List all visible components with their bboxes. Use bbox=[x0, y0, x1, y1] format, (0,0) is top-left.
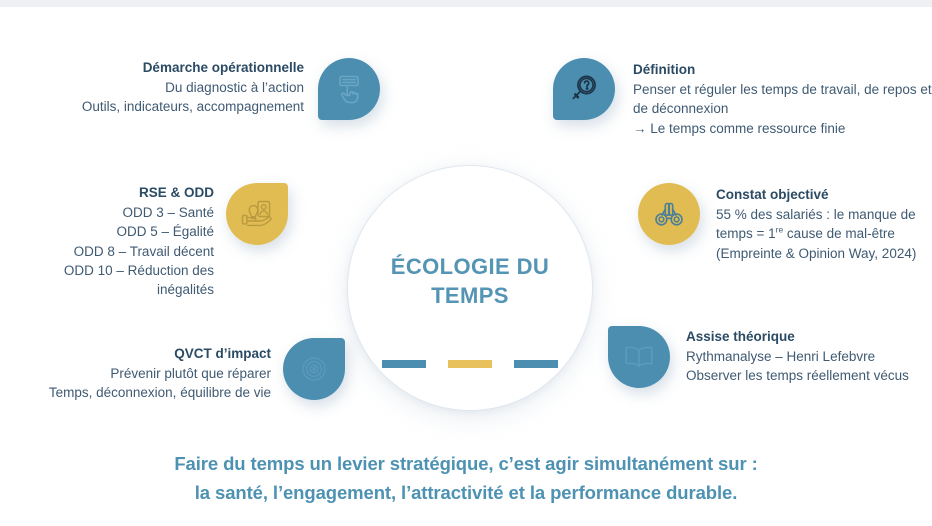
binoculars-icon bbox=[638, 183, 700, 245]
node-qvct-body: Prévenir plutôt que réparer Temps, décon… bbox=[49, 364, 271, 402]
node-assise-body: Rythmanalyse – Henri Lefebvre Observer l… bbox=[686, 347, 909, 385]
node-demarche-title: Démarche opérationnelle bbox=[82, 58, 304, 78]
node-qvct-title: QVCT d’impact bbox=[49, 344, 271, 364]
hand-click-action-icon bbox=[318, 58, 380, 120]
node-constat-title: Constat objectivé bbox=[716, 185, 932, 205]
hub-dash-1 bbox=[382, 360, 426, 368]
node-rse-title: RSE & ODD bbox=[20, 183, 214, 203]
open-book-icon bbox=[608, 326, 670, 388]
node-demarche-body: Du diagnostic à l’action Outils, indicat… bbox=[82, 78, 304, 116]
hub-title: ÉCOLOGIE DU TEMPS bbox=[375, 252, 565, 310]
node-rse-odd[interactable]: RSE & ODD ODD 3 – Santé ODD 5 – Égalité … bbox=[20, 183, 288, 299]
target-bullseye-icon bbox=[283, 338, 345, 400]
node-definition-title: Définition bbox=[633, 60, 932, 80]
node-qvct-text: QVCT d’impact Prévenir plutôt que répare… bbox=[49, 338, 271, 403]
node-definition[interactable]: Définition Penser et réguler les temps d… bbox=[553, 58, 932, 138]
hub-dashes bbox=[348, 360, 592, 368]
node-assise-title: Assise théorique bbox=[686, 327, 909, 347]
node-assise-text: Assise théorique Rythmanalyse – Henri Le… bbox=[686, 326, 909, 386]
node-constat-objective[interactable]: Constat objectivé 55 % des salariés : le… bbox=[638, 183, 932, 263]
node-definition-text: Définition Penser et réguler les temps d… bbox=[633, 58, 932, 138]
infographic-canvas: ÉCOLOGIE DU TEMPS Démarche opérationnell… bbox=[0, 0, 932, 526]
hand-holding-people-icon bbox=[226, 183, 288, 245]
node-qvct-impact[interactable]: QVCT d’impact Prévenir plutôt que répare… bbox=[45, 338, 345, 403]
center-hub: ÉCOLOGIE DU TEMPS bbox=[348, 166, 592, 410]
node-rse-body: ODD 3 – Santé ODD 5 – Égalité ODD 8 – Tr… bbox=[20, 203, 214, 299]
node-constat-body: 55 % des salariés : le manque de temps =… bbox=[716, 205, 932, 262]
node-constat-text: Constat objectivé 55 % des salariés : le… bbox=[716, 183, 932, 263]
node-demarche-text: Démarche opérationnelle Du diagnostic à … bbox=[82, 58, 304, 117]
node-demarche-operationnelle[interactable]: Démarche opérationnelle Du diagnostic à … bbox=[0, 58, 380, 120]
hub-dash-3 bbox=[514, 360, 558, 368]
node-rse-text: RSE & ODD ODD 3 – Santé ODD 5 – Égalité … bbox=[20, 183, 214, 299]
footer-tagline: Faire du temps un levier stratégique, c’… bbox=[0, 450, 932, 507]
hub-dash-2 bbox=[448, 360, 492, 368]
magnifier-question-icon bbox=[553, 58, 615, 120]
node-assise-theorique[interactable]: Assise théorique Rythmanalyse – Henri Le… bbox=[608, 326, 932, 388]
node-definition-body: Penser et réguler les temps de travail, … bbox=[633, 80, 932, 137]
